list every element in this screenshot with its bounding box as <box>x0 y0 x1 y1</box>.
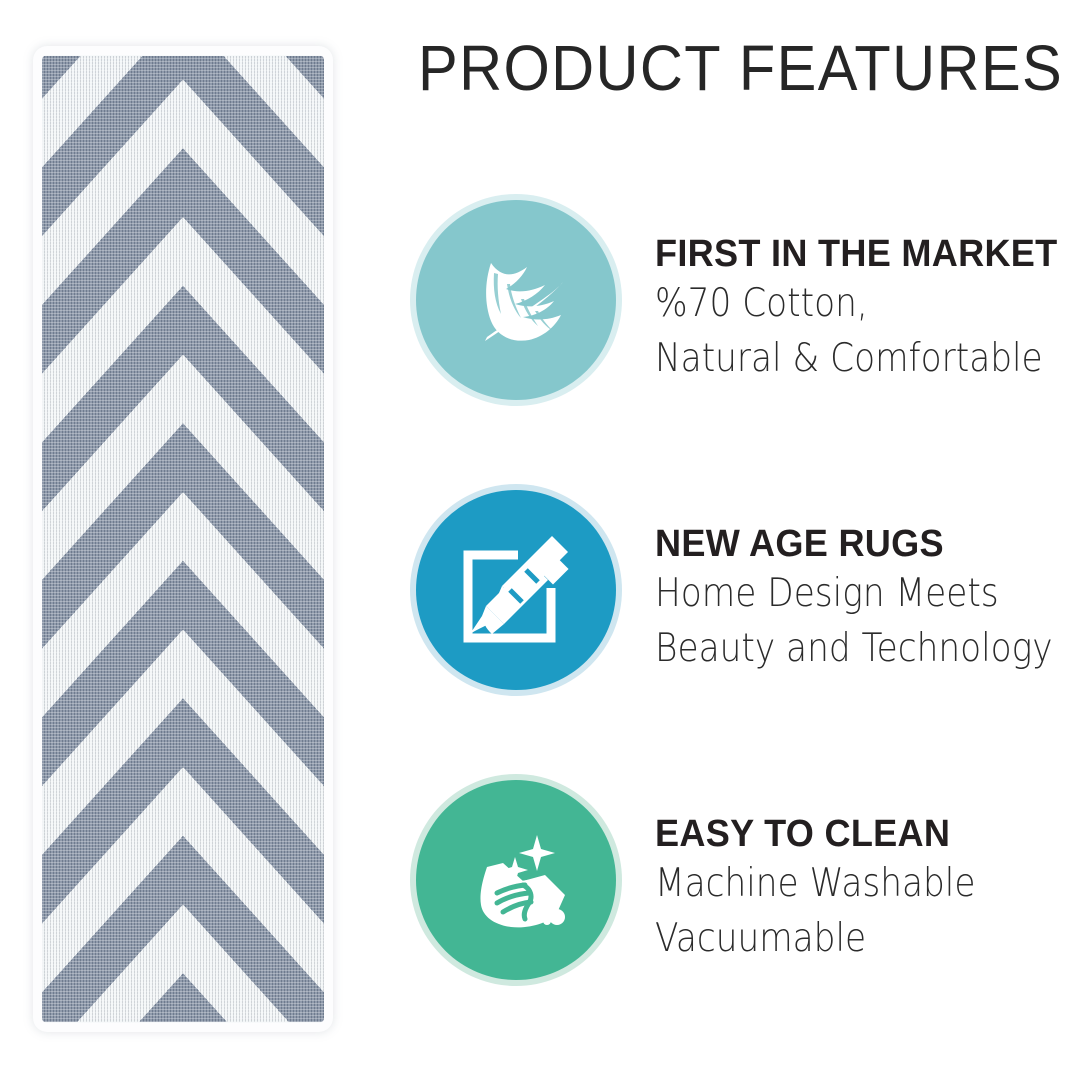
feature-text-block: NEW AGE RUGS Home Design Meets Beauty an… <box>655 522 1055 676</box>
feature-heading: EASY TO CLEAN <box>655 812 1035 856</box>
badge-disc <box>416 200 616 400</box>
badge-disc <box>416 780 616 980</box>
feather-icon <box>457 241 575 359</box>
page-title: PRODUCT FEATURES <box>418 36 1013 100</box>
design-pencil-brush-icon <box>456 530 576 650</box>
rug-pattern-field <box>41 56 325 1022</box>
woven-texture-overlay <box>41 56 325 1022</box>
feature-text-block: FIRST IN THE MARKET %70 Cotton, Natural … <box>655 232 1055 386</box>
product-rug-image <box>33 46 333 1032</box>
feature-row-first-in-the-market: FIRST IN THE MARKET %70 Cotton, Natural … <box>402 186 1062 416</box>
feature-row-new-age-rugs: NEW AGE RUGS Home Design Meets Beauty an… <box>402 476 1062 706</box>
badge-disc <box>416 490 616 690</box>
feature-line-1: Machine Washable <box>655 856 1007 911</box>
feature-line-1: Home Design Meets <box>655 566 1007 621</box>
hand-wiping-cloth-icon <box>453 817 579 943</box>
feature-icon-badge <box>402 766 630 994</box>
feature-line-2: Vacuumable <box>655 911 1007 966</box>
feature-row-easy-to-clean: EASY TO CLEAN Machine Washable Vacuumabl… <box>402 766 1062 996</box>
feature-line-1: %70 Cotton, <box>655 276 1007 331</box>
feature-line-2: Natural & Comfortable <box>655 331 1007 386</box>
feature-line-2: Beauty and Technology <box>655 621 1007 676</box>
feature-text-block: EASY TO CLEAN Machine Washable Vacuumabl… <box>655 812 1055 966</box>
feature-heading: FIRST IN THE MARKET <box>655 232 1035 276</box>
feature-heading: NEW AGE RUGS <box>655 522 1035 566</box>
feature-icon-badge <box>402 476 630 704</box>
infographic-canvas: PRODUCT FEATURES <box>0 0 1080 1080</box>
feature-icon-badge <box>402 186 630 414</box>
